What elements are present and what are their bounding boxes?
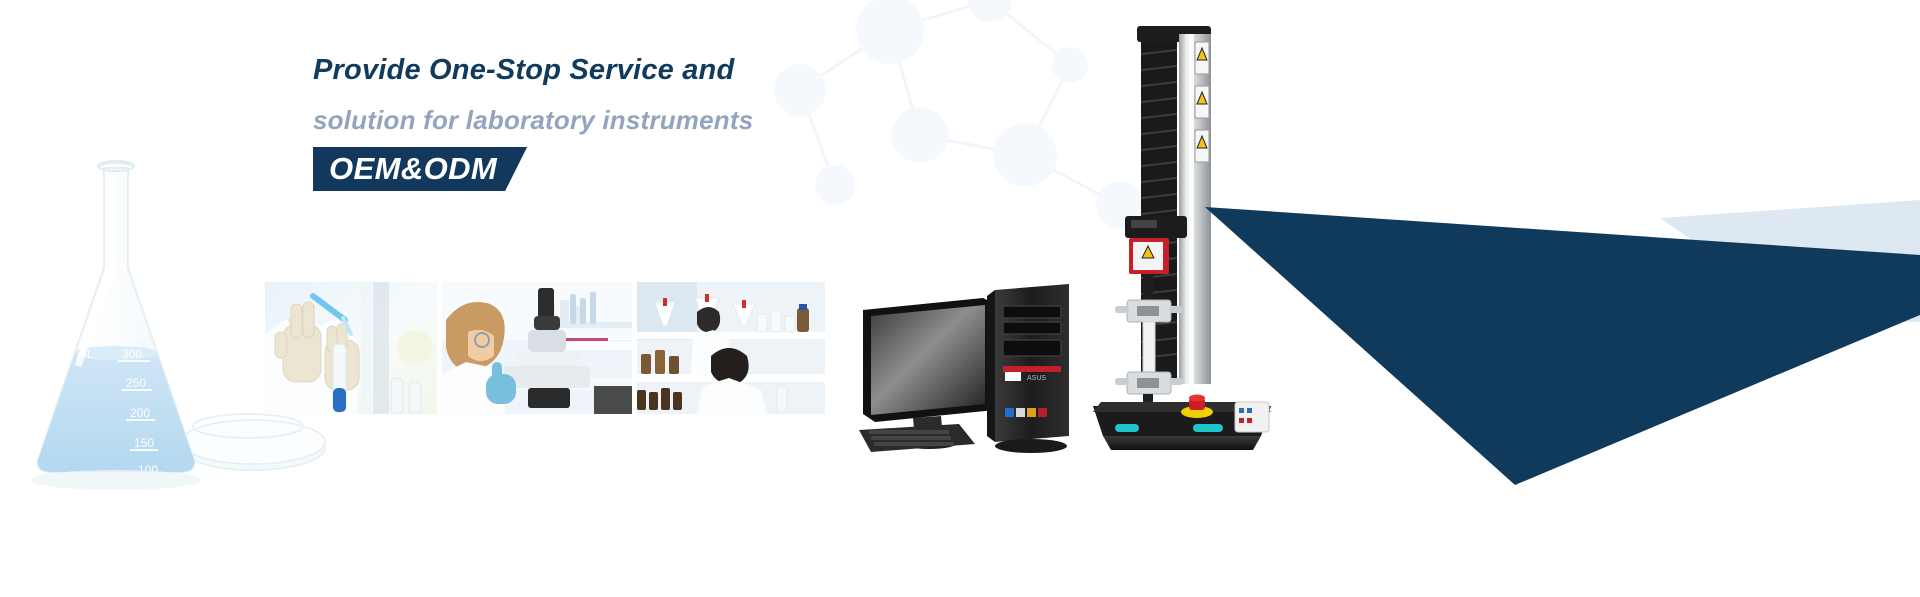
lab-photo-strip <box>265 282 825 414</box>
keyboard <box>859 424 975 452</box>
hero-banner: 300 250 200 150 100 mL Provide One-Stop … <box>0 0 1920 597</box>
headline-line-1: Provide One-Stop Service and <box>313 56 1073 85</box>
graduation-label: 250 <box>126 376 146 390</box>
oem-odm-tag-wrap: OEM&ODM <box>313 147 527 191</box>
pc-tower: ASUS <box>987 284 1069 453</box>
crosshead <box>1125 216 1187 238</box>
desktop-computer: ASUS <box>855 280 1085 460</box>
headline-line-2: solution for laboratory instruments <box>313 107 1073 133</box>
graduation-label: 300 <box>122 347 142 361</box>
graduation-label: 200 <box>130 406 150 420</box>
tower-brand: ASUS <box>1027 375 1046 382</box>
unit-label: mL <box>78 349 93 361</box>
oem-odm-tag: OEM&ODM <box>313 147 527 191</box>
warning-label <box>1195 42 1209 162</box>
photo-lab-bench <box>637 282 825 414</box>
navy-arrow-triangle <box>1205 155 1920 485</box>
photo-microscope <box>442 282 632 414</box>
graduation-label: 150 <box>134 436 154 450</box>
erlenmeyer-flask: 300 250 200 150 100 mL <box>38 161 194 477</box>
headline-block: Provide One-Stop Service and solution fo… <box>313 56 1073 191</box>
load-cell <box>1129 238 1169 274</box>
photo-pipetting <box>265 282 437 414</box>
petri-dish <box>181 414 325 470</box>
